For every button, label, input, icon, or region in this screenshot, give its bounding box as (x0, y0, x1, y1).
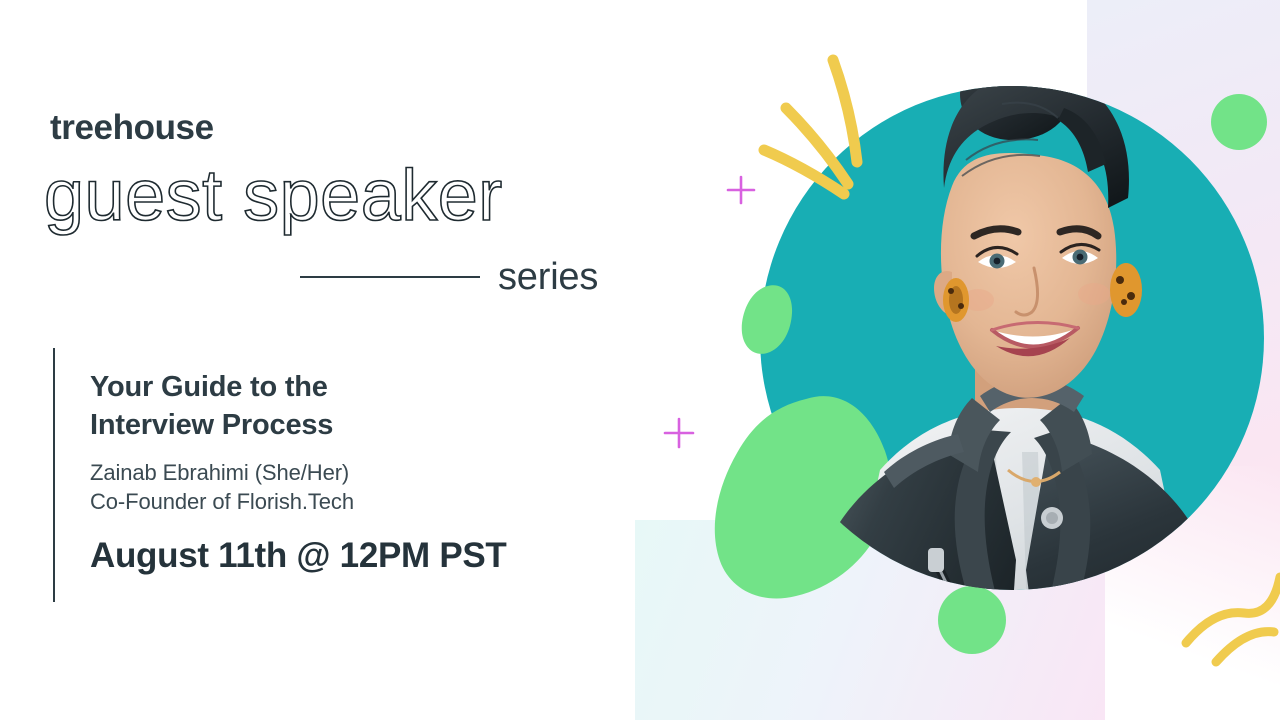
earring-right (1110, 263, 1142, 317)
green-circle-bottom (938, 586, 1006, 654)
yellow-wave-strokes (1186, 577, 1280, 662)
series-row: series (300, 252, 630, 302)
yellow-burst-strokes (764, 60, 857, 194)
event-date: August 11th @ 12PM PST (90, 538, 610, 573)
vertical-accent-rule (53, 348, 55, 602)
headline-guest-speaker: guest speaker (44, 160, 664, 232)
pink-plus-lower (665, 419, 693, 447)
green-circle-top-right (1211, 94, 1267, 150)
promo-graphic: treehouse guest speaker series Your Guid… (0, 0, 1280, 720)
speaker-name: Zainab Ebrahimi (She/Her) (90, 459, 610, 487)
pink-plus-upper (728, 177, 754, 203)
series-divider-rule (300, 276, 480, 278)
brand-wordmark: treehouse (50, 110, 214, 145)
speaker-role: Co-Founder of Florish.Tech (90, 488, 610, 516)
earring-left (943, 278, 969, 322)
event-details: Your Guide to the Interview Process Zain… (90, 368, 610, 573)
headline-series: series (498, 258, 598, 296)
event-title: Your Guide to the Interview Process (90, 368, 610, 445)
headline-outline-wrap: guest speaker (44, 160, 664, 260)
